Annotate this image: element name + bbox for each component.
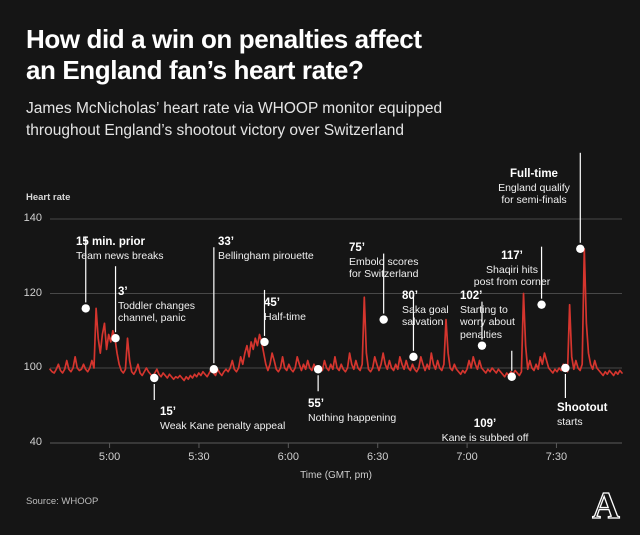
x-tick-label-6-00: 6:00 bbox=[263, 451, 313, 463]
annotation-subtitle-102-minutes-2: penalties bbox=[460, 329, 515, 342]
source-note: Source: WHOOP bbox=[26, 496, 98, 507]
annotation-title-117-minutes: 117’ bbox=[442, 250, 582, 264]
annotation-3-minutes: 3’Toddler changeschannel, panic bbox=[118, 286, 195, 325]
annotation-marker-shootout-starts[interactable] bbox=[561, 364, 569, 372]
annotation-marker-45-minutes[interactable] bbox=[260, 338, 268, 346]
y-tick-label-40: 40 bbox=[8, 436, 42, 448]
logo-letter: A bbox=[592, 485, 620, 526]
annotation-marker-3-minutes[interactable] bbox=[111, 334, 119, 342]
annotation-marker-109-minutes[interactable] bbox=[508, 373, 516, 381]
x-axis-title: Time (GMT, pm) bbox=[236, 470, 436, 481]
annotation-subtitle-102-minutes-1: worry about bbox=[460, 316, 515, 329]
annotation-marker-102-minutes[interactable] bbox=[478, 341, 486, 349]
annotation-subtitle-15-minutes-0: Weak Kane penalty appeal bbox=[160, 420, 285, 433]
annotation-full-time: Full-timeEngland qualifyfor semi-finals bbox=[464, 168, 604, 207]
annotation-title-75-minutes: 75’ bbox=[349, 242, 418, 256]
the-athletic-logo-icon: A bbox=[586, 484, 626, 526]
x-tick-label-5-00: 5:00 bbox=[85, 451, 135, 463]
x-tick-label-5-30: 5:30 bbox=[174, 451, 224, 463]
annotation-subtitle-80-minutes-0: Saka goal bbox=[402, 304, 449, 317]
x-tick-label-6-30: 6:30 bbox=[353, 451, 403, 463]
annotation-subtitle-33-minutes-0: Bellingham pirouette bbox=[218, 250, 314, 263]
annotation-shootout-starts: Shootoutstarts bbox=[557, 402, 607, 428]
annotation-title-109-minutes: 109’ bbox=[415, 418, 555, 432]
annotation-subtitle-75-minutes-0: Embolo scores bbox=[349, 256, 418, 269]
x-tick-label-7-00: 7:00 bbox=[442, 451, 492, 463]
annotation-subtitle-102-minutes-0: Starting to bbox=[460, 304, 515, 317]
annotation-subtitle-full-time-1: for semi-finals bbox=[464, 194, 604, 207]
annotation-subtitle-117-minutes-1: post from corner bbox=[442, 276, 582, 289]
y-tick-label-140: 140 bbox=[8, 212, 42, 224]
annotation-marker-75-minutes[interactable] bbox=[379, 315, 387, 323]
annotation-subtitle-55-minutes-0: Nothing happening bbox=[308, 412, 396, 425]
annotation-title-15-minutes: 15’ bbox=[160, 406, 285, 420]
annotation-subtitle-3-minutes-0: Toddler changes bbox=[118, 300, 195, 313]
annotation-marker-80-minutes[interactable] bbox=[409, 353, 417, 361]
annotation-80-minutes: 80’Saka goalsalvation bbox=[402, 290, 449, 329]
annotation-subtitle-shootout-starts-0: starts bbox=[557, 416, 607, 429]
annotation-33-minutes: 33’Bellingham pirouette bbox=[218, 236, 314, 262]
annotation-marker-55-minutes[interactable] bbox=[314, 365, 322, 373]
annotation-subtitle-117-minutes-0: Shaqiri hits bbox=[442, 264, 582, 277]
annotation-title-102-minutes: 102’ bbox=[460, 290, 515, 304]
annotation-subtitle-80-minutes-1: salvation bbox=[402, 316, 449, 329]
annotation-marker-15-minutes[interactable] bbox=[150, 374, 158, 382]
annotation-subtitle-109-minutes-0: Kane is subbed off bbox=[415, 432, 555, 445]
y-axis-title: Heart rate bbox=[26, 192, 70, 203]
annotation-title-15-min-prior: 15 min. prior bbox=[76, 236, 164, 250]
annotation-45-minutes: 45’Half-time bbox=[264, 297, 306, 323]
annotation-title-3-minutes: 3’ bbox=[118, 286, 195, 300]
annotation-title-55-minutes: 55’ bbox=[308, 398, 396, 412]
annotation-title-80-minutes: 80’ bbox=[402, 290, 449, 304]
annotation-117-minutes: 117’Shaqiri hitspost from corner bbox=[442, 250, 582, 289]
annotation-109-minutes: 109’Kane is subbed off bbox=[415, 418, 555, 444]
annotation-title-shootout-starts: Shootout bbox=[557, 402, 607, 416]
annotation-marker-117-minutes[interactable] bbox=[537, 300, 545, 308]
annotation-subtitle-3-minutes-1: channel, panic bbox=[118, 312, 195, 325]
annotation-title-full-time: Full-time bbox=[464, 168, 604, 182]
y-tick-label-100: 100 bbox=[8, 361, 42, 373]
annotation-subtitle-15-min-prior-0: Team news breaks bbox=[76, 250, 164, 263]
annotation-marker-33-minutes[interactable] bbox=[210, 365, 218, 373]
annotation-15-min-prior: 15 min. priorTeam news breaks bbox=[76, 236, 164, 262]
annotation-title-33-minutes: 33’ bbox=[218, 236, 314, 250]
annotation-subtitle-45-minutes-0: Half-time bbox=[264, 311, 306, 324]
annotation-15-minutes: 15’Weak Kane penalty appeal bbox=[160, 406, 285, 432]
heart-rate-chart: 15 min. priorTeam news breaks3’Toddler c… bbox=[0, 0, 640, 535]
annotation-title-45-minutes: 45’ bbox=[264, 297, 306, 311]
annotation-102-minutes: 102’Starting toworry aboutpenalties bbox=[460, 290, 515, 341]
annotation-55-minutes: 55’Nothing happening bbox=[308, 398, 396, 424]
annotation-subtitle-full-time-0: England qualify bbox=[464, 182, 604, 195]
annotation-marker-15-min-prior[interactable] bbox=[82, 304, 90, 312]
x-tick-label-7-30: 7:30 bbox=[531, 451, 581, 463]
annotation-75-minutes: 75’Embolo scoresfor Switzerland bbox=[349, 242, 418, 281]
annotation-subtitle-75-minutes-1: for Switzerland bbox=[349, 268, 418, 281]
y-tick-label-120: 120 bbox=[8, 287, 42, 299]
chart-page: How did a win on penalties affect an Eng… bbox=[0, 0, 640, 535]
